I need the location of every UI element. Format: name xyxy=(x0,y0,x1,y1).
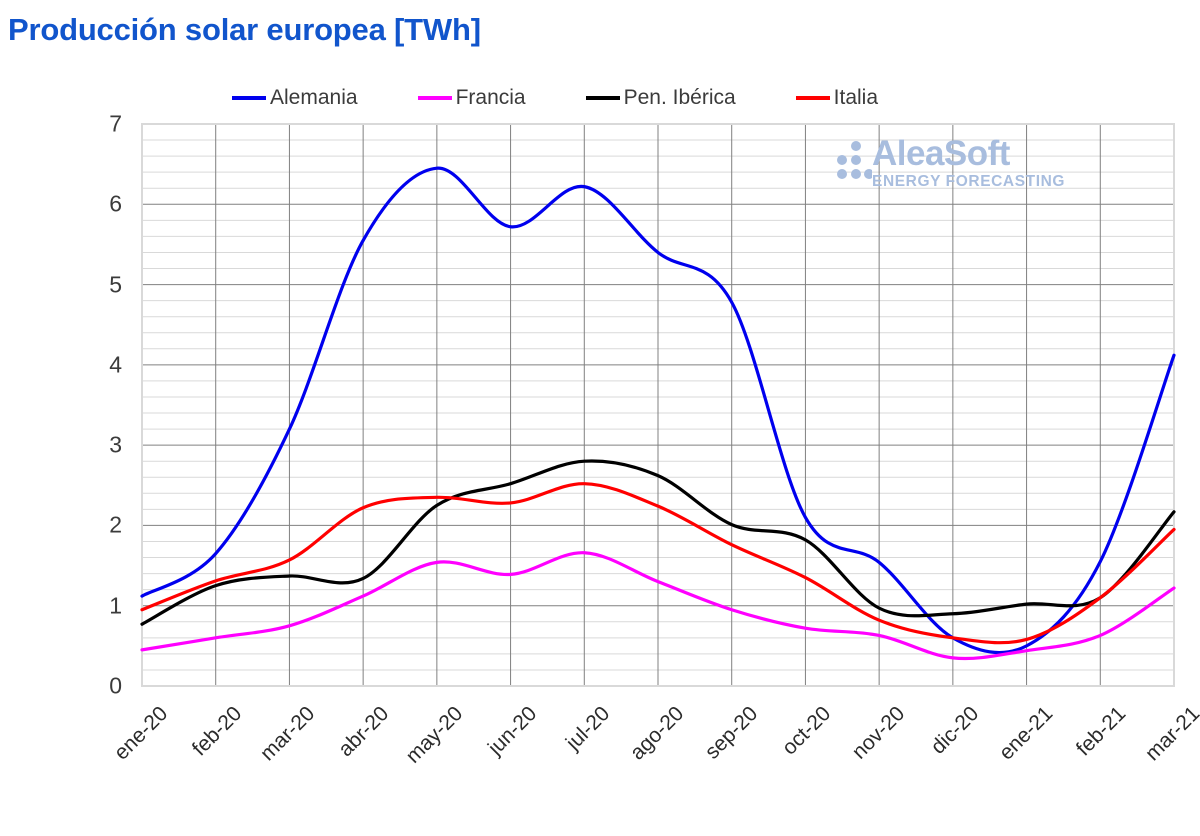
y-axis-tick-label: 4 xyxy=(82,351,122,378)
y-axis-tick-label: 2 xyxy=(82,512,122,539)
y-axis-tick-label: 1 xyxy=(82,592,122,619)
y-axis-tick-label: 6 xyxy=(82,191,122,218)
chart-plot-area: 76543210ene-20feb-20mar-20abr-20may-20ju… xyxy=(0,0,1200,831)
y-axis-tick-label: 3 xyxy=(82,432,122,459)
y-axis-tick-label: 5 xyxy=(82,271,122,298)
y-axis-tick-label: 7 xyxy=(82,111,122,138)
y-axis-tick-label: 0 xyxy=(82,673,122,700)
